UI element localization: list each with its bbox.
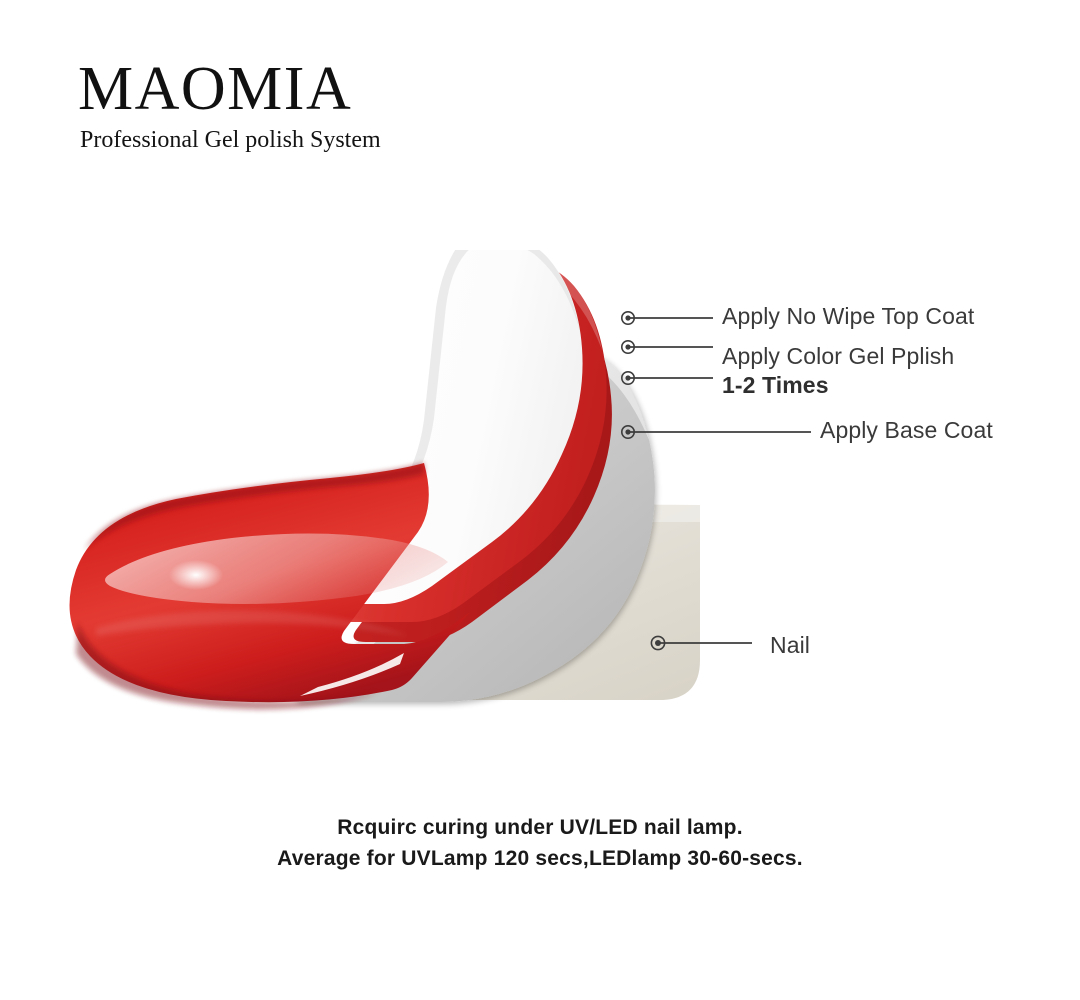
callout-base-coat[interactable] <box>622 426 811 438</box>
nail-layer-diagram: Apply No Wipe Top Coat Apply Color Gel P… <box>0 250 1080 750</box>
callout-label-color-gel: Apply Color Gel Pplish <box>722 343 954 371</box>
callout-label-base-coat: Apply Base Coat <box>820 417 993 445</box>
brand-block: MAOMIA Professional Gel polish System <box>78 58 538 154</box>
brand-name: MAOMIA <box>78 58 538 121</box>
callout-label-top-coat: Apply No Wipe Top Coat <box>722 303 974 331</box>
callout-label-times: 1-2 Times <box>722 372 829 400</box>
callout-label-nail: Nail <box>770 632 810 660</box>
curing-instruction-line-1: Rcquirc curing under UV/LED nail lamp. <box>0 812 1080 843</box>
brand-tagline: Professional Gel polish System <box>80 127 538 153</box>
callout-color-gel[interactable] <box>622 341 713 353</box>
curing-instruction-line-2: Average for UVLamp 120 secs,LEDlamp 30-6… <box>0 843 1080 874</box>
callout-times[interactable] <box>622 372 713 384</box>
curing-instructions: Rcquirc curing under UV/LED nail lamp. A… <box>0 812 1080 874</box>
callout-top-coat[interactable] <box>622 312 713 324</box>
